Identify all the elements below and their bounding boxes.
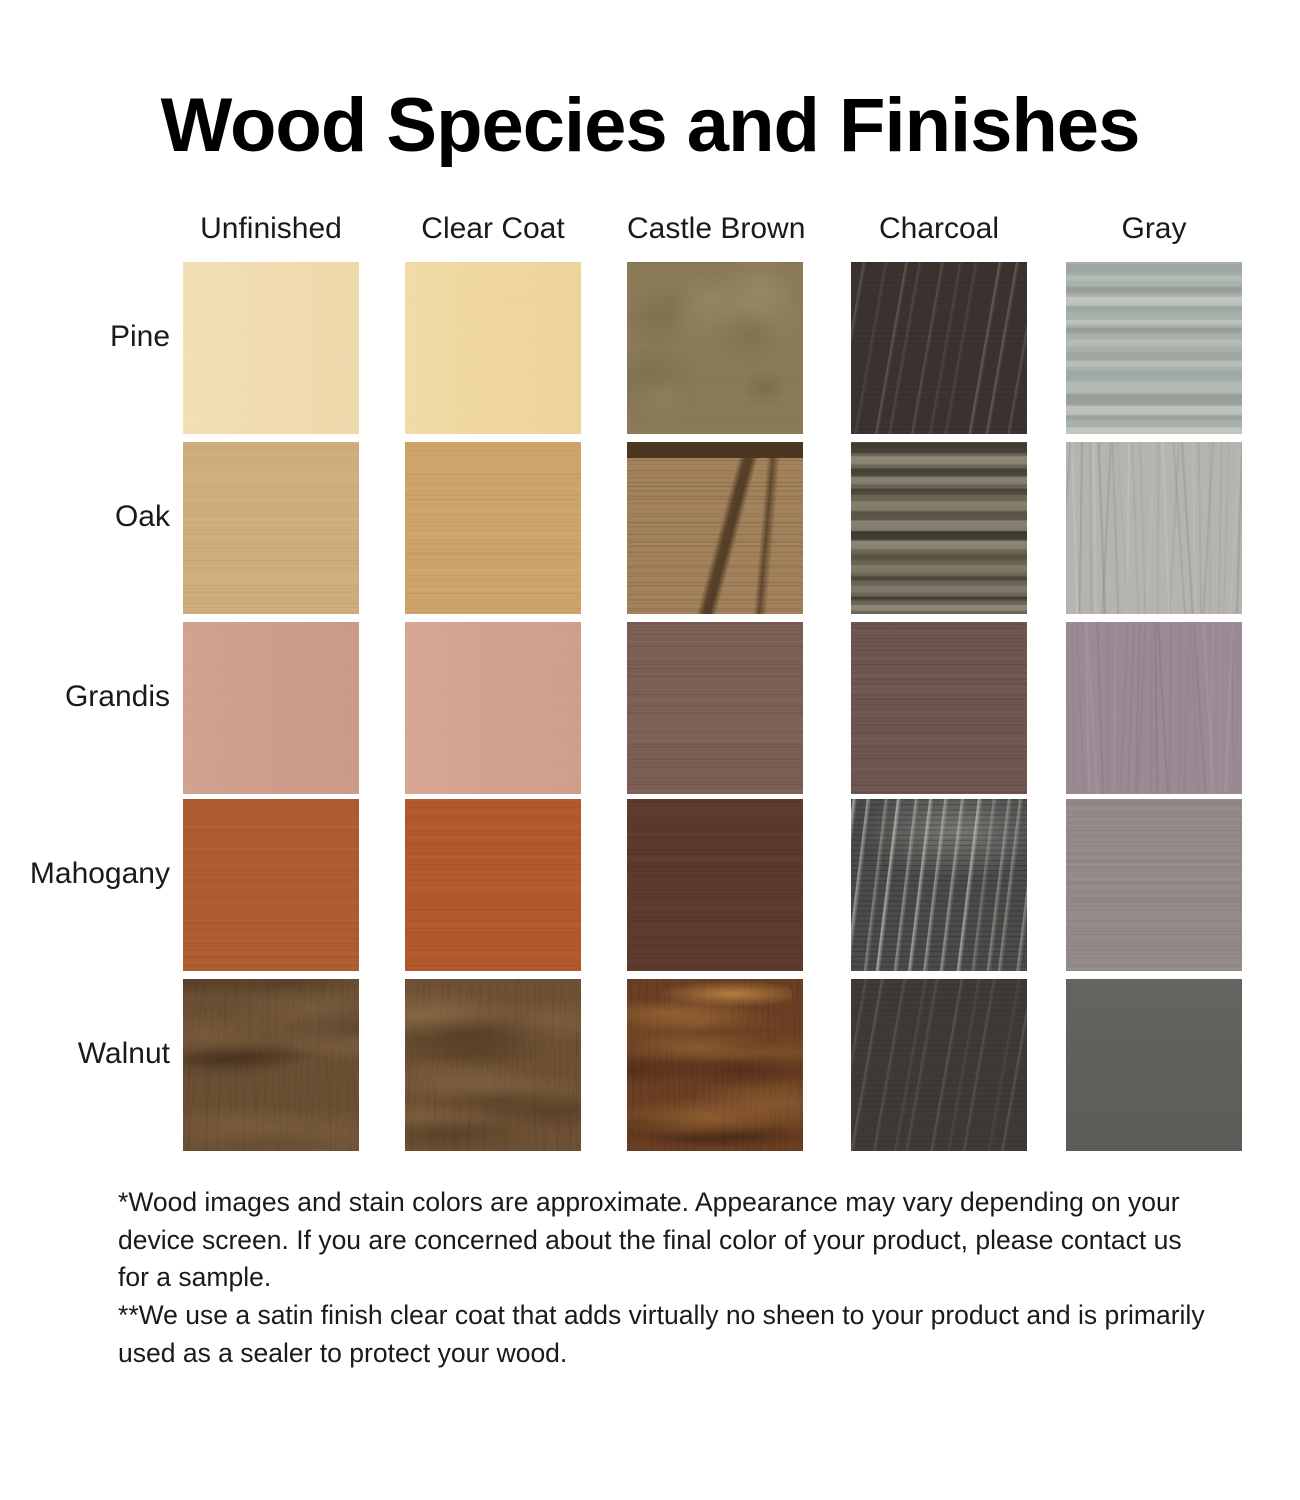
swatch-grandis-clear-coat[interactable] — [405, 622, 581, 794]
wood-finish-chart: Wood Species and Finishes UnfinishedClea… — [0, 0, 1300, 1500]
column-header-clear-coat: Clear Coat — [405, 212, 581, 245]
swatch-mahogany-charcoal[interactable] — [851, 799, 1027, 971]
swatch-walnut-gray[interactable] — [1066, 979, 1242, 1151]
page-title: Wood Species and Finishes — [0, 88, 1300, 164]
swatch-pine-gray[interactable] — [1066, 262, 1242, 434]
swatch-oak-clear-coat[interactable] — [405, 442, 581, 614]
row-label-walnut: Walnut — [0, 1037, 170, 1071]
wood-grain-texture — [183, 622, 359, 794]
swatch-rows: PineOakGrandisMahoganyWalnut — [0, 262, 1300, 1162]
row-label-mahogany: Mahogany — [0, 857, 170, 891]
swatch-mahogany-gray[interactable] — [1066, 799, 1242, 971]
wood-grain-texture — [1066, 799, 1242, 971]
column-header-castle-brown: Castle Brown — [627, 212, 803, 245]
swatch-mahogany-castle-brown[interactable] — [627, 799, 803, 971]
wood-grain-texture — [1066, 979, 1242, 1151]
wood-grain-texture — [183, 979, 359, 1151]
wood-grain-texture — [851, 622, 1027, 794]
column-header-charcoal: Charcoal — [851, 212, 1027, 245]
column-header-gray: Gray — [1066, 212, 1242, 245]
row-label-pine: Pine — [0, 320, 170, 354]
swatch-grandis-charcoal[interactable] — [851, 622, 1027, 794]
table-row: Grandis — [0, 622, 1300, 802]
wood-grain-texture — [405, 622, 581, 794]
row-label-oak: Oak — [0, 500, 170, 534]
swatch-oak-unfinished[interactable] — [183, 442, 359, 614]
wood-grain-texture — [405, 262, 581, 434]
wood-grain-texture — [851, 262, 1027, 434]
swatch-oak-gray[interactable] — [1066, 442, 1242, 614]
wood-grain-texture — [627, 799, 803, 971]
swatch-grandis-gray[interactable] — [1066, 622, 1242, 794]
swatch-pine-charcoal[interactable] — [851, 262, 1027, 434]
wood-grain-texture — [405, 979, 581, 1151]
wood-grain-texture — [183, 799, 359, 971]
swatch-oak-charcoal[interactable] — [851, 442, 1027, 614]
swatch-mahogany-clear-coat[interactable] — [405, 799, 581, 971]
wood-grain-texture — [405, 442, 581, 614]
wood-grain-texture — [627, 442, 803, 614]
wood-grain-texture — [405, 799, 581, 971]
swatch-grid: UnfinishedClear CoatCastle BrownCharcoal… — [0, 212, 1300, 1162]
swatch-pine-unfinished[interactable] — [183, 262, 359, 434]
wood-grain-texture — [1066, 622, 1242, 794]
wood-grain-texture — [851, 442, 1027, 614]
swatch-pine-clear-coat[interactable] — [405, 262, 581, 434]
table-row: Oak — [0, 442, 1300, 622]
wood-grain-texture — [1066, 262, 1242, 434]
swatch-oak-castle-brown[interactable] — [627, 442, 803, 614]
table-row: Mahogany — [0, 799, 1300, 979]
swatch-walnut-castle-brown[interactable] — [627, 979, 803, 1151]
wood-grain-texture — [851, 799, 1027, 971]
wood-grain-texture — [627, 262, 803, 434]
wood-grain-texture — [1066, 442, 1242, 614]
wood-grain-texture — [183, 442, 359, 614]
row-label-grandis: Grandis — [0, 680, 170, 714]
dark-edge-band — [627, 442, 803, 458]
table-row: Pine — [0, 262, 1300, 442]
swatch-mahogany-unfinished[interactable] — [183, 799, 359, 971]
swatch-walnut-charcoal[interactable] — [851, 979, 1027, 1151]
wood-grain-texture — [627, 622, 803, 794]
wood-grain-texture — [183, 262, 359, 434]
swatch-walnut-clear-coat[interactable] — [405, 979, 581, 1151]
footnotes: *Wood images and stain colors are approx… — [118, 1184, 1213, 1372]
wood-grain-texture — [851, 979, 1027, 1151]
swatch-walnut-unfinished[interactable] — [183, 979, 359, 1151]
footnote-satin-clear-coat: **We use a satin finish clear coat that … — [118, 1297, 1213, 1372]
table-row: Walnut — [0, 979, 1300, 1159]
amber-highlight-band — [659, 981, 793, 1007]
swatch-grandis-castle-brown[interactable] — [627, 622, 803, 794]
column-header-row: UnfinishedClear CoatCastle BrownCharcoal… — [0, 212, 1300, 262]
swatch-pine-castle-brown[interactable] — [627, 262, 803, 434]
column-header-unfinished: Unfinished — [183, 212, 359, 245]
swatch-grandis-unfinished[interactable] — [183, 622, 359, 794]
footnote-approximate-colors: *Wood images and stain colors are approx… — [118, 1184, 1213, 1297]
